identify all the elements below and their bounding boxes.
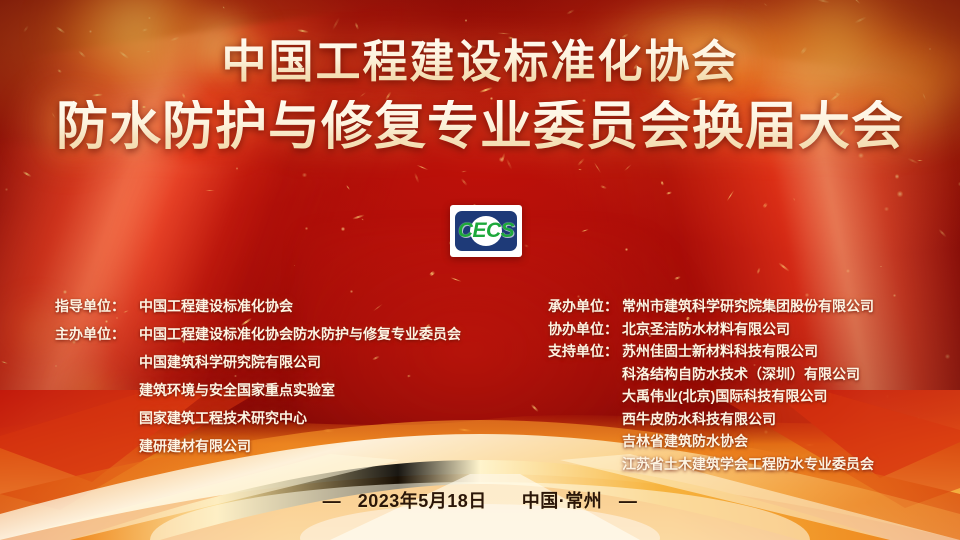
event-location: 中国·常州: [522, 491, 603, 511]
conference-banner: 中国工程建设标准化协会 防水防护与修复专业委员会换届大会 CECS 指导单位：中…: [0, 0, 960, 540]
organization-name: 北京圣洁防水材料有限公司: [622, 319, 790, 339]
organizations-right-column: 承办单位：常州市建筑科学研究院集团股份有限公司协办单位：北京圣洁防水材料有限公司…: [548, 296, 874, 476]
event-footer: — 2023年5月18日 中国·常州 —: [0, 487, 960, 513]
organization-row: 吉林省建筑防水协会: [548, 431, 874, 454]
organization-row: 国家建筑工程技术研究中心: [55, 408, 461, 436]
organization-name: 吉林省建筑防水协会: [622, 431, 748, 451]
title-line-1: 中国工程建设标准化协会: [0, 38, 960, 86]
organization-row: 承办单位：常州市建筑科学研究院集团股份有限公司: [548, 296, 874, 319]
organization-name: 苏州佳固士新材料科技有限公司: [622, 341, 818, 361]
organization-row: 大禹伟业(北京)国际科技有限公司: [548, 386, 874, 409]
organization-name: 大禹伟业(北京)国际科技有限公司: [622, 386, 827, 406]
organization-row: 主办单位：中国工程建设标准化协会防水防护与修复专业委员会: [55, 324, 461, 352]
logo-text: CECS: [455, 211, 517, 251]
footer-dash-left: —: [323, 491, 342, 511]
event-date: 2023年5月18日: [358, 491, 487, 511]
organization-row: 西牛皮防水科技有限公司: [548, 409, 874, 432]
organization-name: 中国工程建设标准化协会防水防护与修复专业委员会: [139, 324, 461, 344]
organization-row: 科洛结构自防水技术（深圳）有限公司: [548, 364, 874, 387]
organization-label: 承办单位：: [548, 296, 622, 316]
organization-name: 中国工程建设标准化协会: [139, 296, 293, 316]
organization-row: 指导单位：中国工程建设标准化协会: [55, 296, 461, 324]
organization-label: 主办单位：: [55, 324, 139, 344]
organization-name: 国家建筑工程技术研究中心: [139, 408, 307, 428]
organization-name: 科洛结构自防水技术（深圳）有限公司: [622, 364, 860, 384]
organization-name: 中国建筑科学研究院有限公司: [139, 352, 321, 372]
organizations-left-column: 指导单位：中国工程建设标准化协会主办单位：中国工程建设标准化协会防水防护与修复专…: [55, 296, 461, 464]
cecs-logo: CECS: [450, 205, 522, 257]
organization-row: 建研建材有限公司: [55, 436, 461, 464]
organization-label: 支持单位：: [548, 341, 622, 361]
organization-row: 支持单位：苏州佳固士新材料科技有限公司: [548, 341, 874, 364]
organization-label: 协办单位：: [548, 319, 622, 339]
organization-name: 西牛皮防水科技有限公司: [622, 409, 776, 429]
banner-title: 中国工程建设标准化协会 防水防护与修复专业委员会换届大会: [0, 38, 960, 155]
organization-row: 协办单位：北京圣洁防水材料有限公司: [548, 319, 874, 342]
organization-name: 建筑环境与安全国家重点实验室: [139, 380, 335, 400]
organization-name: 江苏省土木建筑学会工程防水专业委员会: [622, 454, 874, 474]
title-line-2: 防水防护与修复专业委员会换届大会: [0, 100, 960, 155]
organization-name: 常州市建筑科学研究院集团股份有限公司: [622, 296, 874, 316]
organization-row: 建筑环境与安全国家重点实验室: [55, 380, 461, 408]
organization-row: 中国建筑科学研究院有限公司: [55, 352, 461, 380]
organization-name: 建研建材有限公司: [139, 436, 251, 456]
footer-dash-right: —: [619, 491, 638, 511]
organization-row: 江苏省土木建筑学会工程防水专业委员会: [548, 454, 874, 477]
organization-label: 指导单位：: [55, 296, 139, 316]
